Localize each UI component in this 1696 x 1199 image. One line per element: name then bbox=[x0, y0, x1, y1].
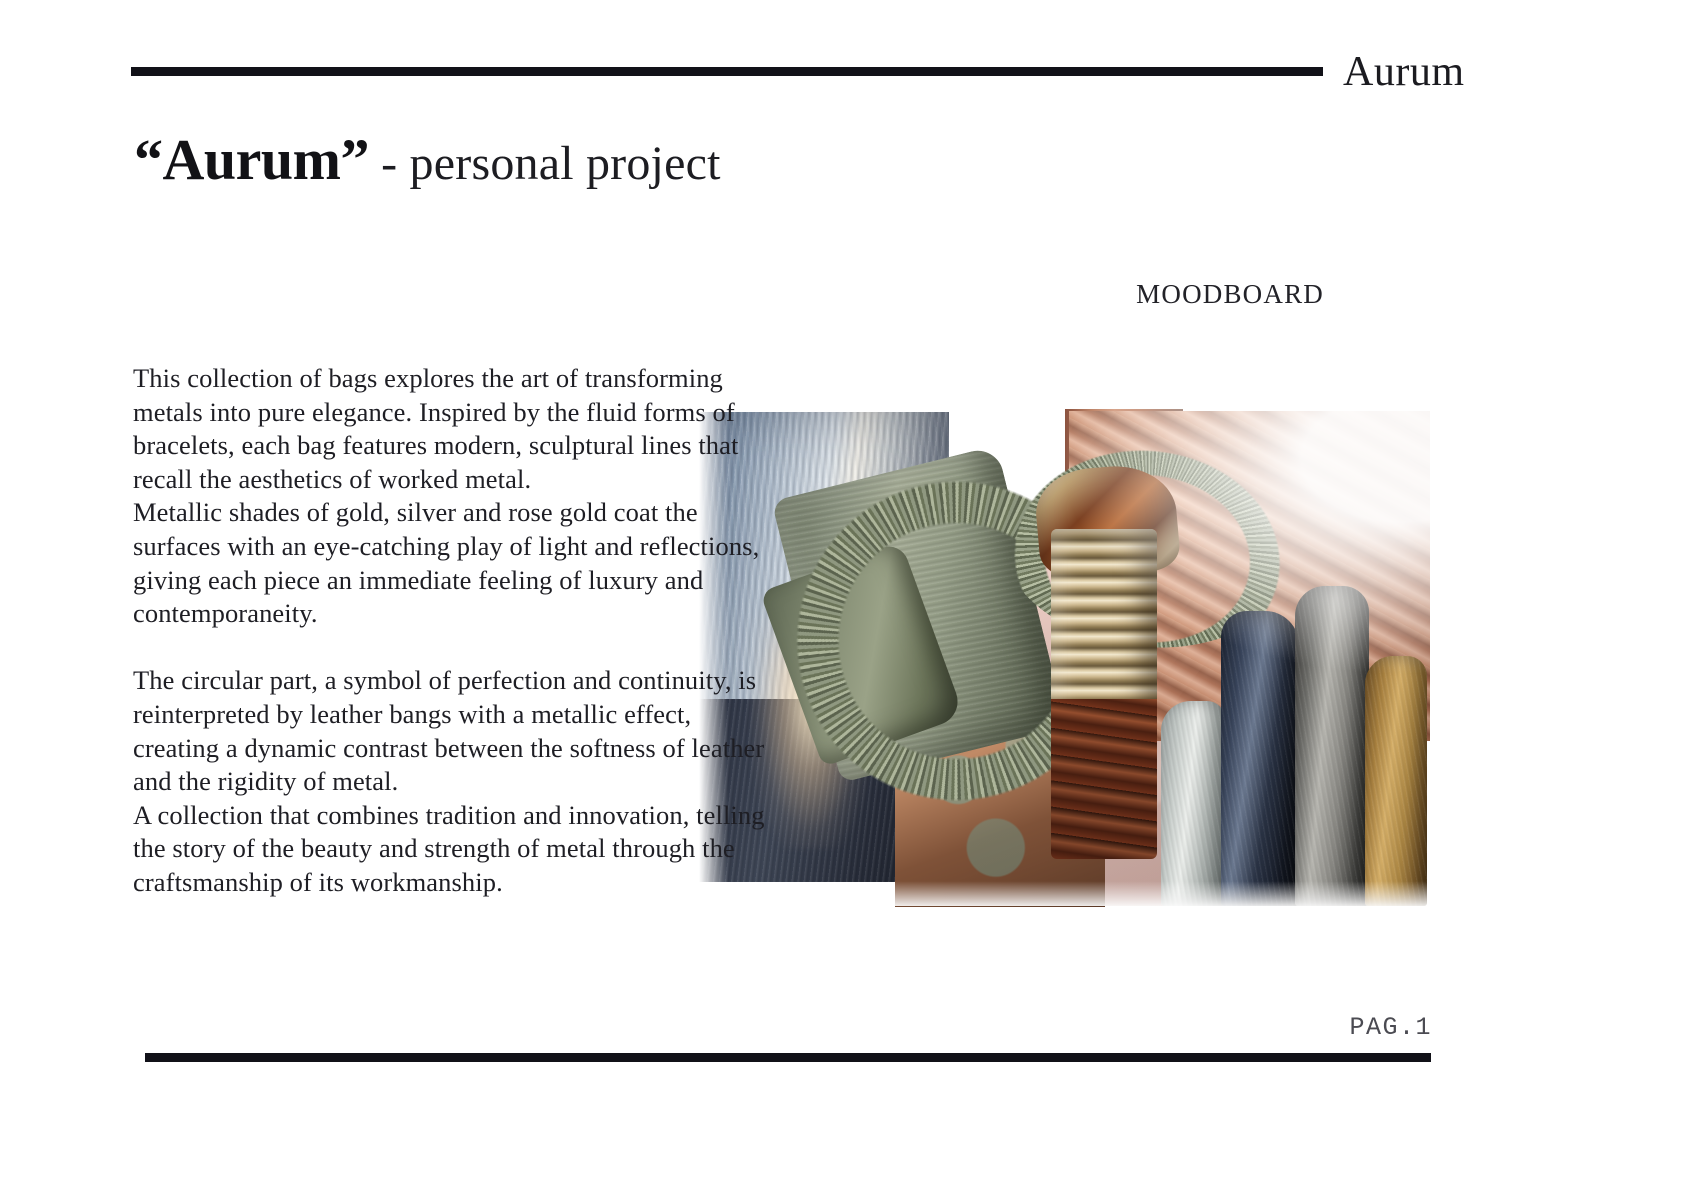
collage-leather-roll-pewter bbox=[1295, 586, 1369, 906]
collage-leather-roll-navy bbox=[1221, 611, 1299, 906]
collage-leather-roll-gold bbox=[1365, 656, 1427, 906]
collage-leather-roll-silver bbox=[1161, 701, 1225, 906]
footer-rule bbox=[145, 1053, 1431, 1062]
page-title-sub: - personal project bbox=[369, 137, 721, 190]
collage-threaded-cylinder-rust bbox=[1051, 699, 1157, 859]
header-brand: Aurum bbox=[1343, 48, 1465, 96]
leather-grain-texture bbox=[1221, 611, 1299, 906]
header-rule bbox=[131, 67, 1323, 76]
paragraph-1: This collection of bags explores the art… bbox=[133, 362, 823, 631]
paragraph-2: The circular part, a symbol of perfectio… bbox=[133, 664, 823, 899]
page-title-main: “Aurum” bbox=[134, 127, 369, 192]
body-text-column: This collection of bags explores the art… bbox=[133, 362, 823, 900]
page-title: “Aurum” - personal project bbox=[134, 127, 721, 197]
page-header: Aurum bbox=[0, 48, 1696, 100]
leather-grain-texture bbox=[1295, 586, 1369, 906]
leather-grain-texture bbox=[1365, 656, 1427, 906]
document-page: Aurum “Aurum” - personal project MOODBOA… bbox=[0, 0, 1696, 1199]
section-label-moodboard: MOODBOARD bbox=[0, 278, 1324, 310]
leather-grain-texture bbox=[1161, 701, 1225, 906]
page-number: PAG.1 bbox=[0, 1013, 1432, 1043]
